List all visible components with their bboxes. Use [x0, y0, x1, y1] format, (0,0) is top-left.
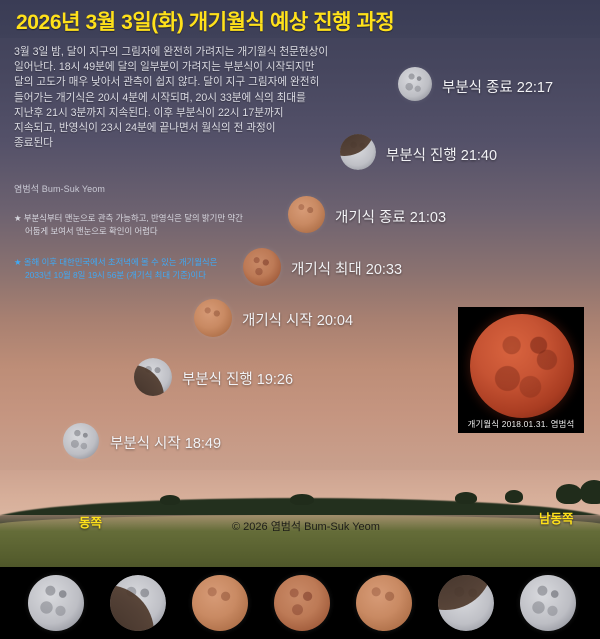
- moon-partial-late: [340, 134, 376, 170]
- stage-label-partial-start: 부분식 시작 18:49: [110, 432, 221, 453]
- photo-caption: 개기월식 2018.01.31. 염범석: [458, 418, 584, 430]
- note-line: 부분식부터 맨눈으로 관측 가능하고, 반영식은 달의 밝기만 약간: [24, 213, 243, 223]
- stage-label-partial-early: 부분식 진행 19:26: [182, 368, 293, 389]
- description-line: 종료된다: [14, 136, 334, 151]
- eclipse-infographic: 2026년 3월 3일(화) 개기월식 예상 진행 과정 3월 3일 밤, 달이…: [0, 0, 600, 639]
- tree-bump: [160, 495, 180, 505]
- filmstrip-moon-full: [28, 575, 84, 631]
- author-credit: 염범석 Bum-Suk Yeom: [14, 182, 105, 195]
- description-line: 3월 3일 밤, 달이 지구의 그림자에 완전히 가려지는 개기월식 천문현상이: [14, 45, 334, 60]
- stage-label-partial-end: 부분식 종료 22:17: [442, 76, 553, 97]
- moon-partial-end: [398, 67, 432, 101]
- moon-partial-start: [63, 423, 99, 459]
- filmstrip-moon-partial-late: [438, 575, 494, 631]
- note-naked-eye: ★ 부분식부터 맨눈으로 관측 가능하고, 반영식은 달의 밝기만 약간 어둡게…: [14, 212, 314, 238]
- direction-east: 동쪽: [79, 512, 102, 531]
- moon-totality-max: [243, 248, 281, 286]
- tree-bump: [290, 494, 314, 505]
- copyright-notice: © 2026 염범석 Bum-Suk Yeom: [232, 518, 380, 534]
- filmstrip-moon-full-end: [520, 575, 576, 631]
- tree-bump: [580, 480, 600, 504]
- stage-label-totality-start: 개기식 시작 20:04: [242, 309, 353, 330]
- stage-label-totality-end: 개기식 종료 21:03: [335, 206, 446, 227]
- stage-label-totality-max: 개기식 최대 20:33: [291, 258, 402, 279]
- moon-totality-start: [194, 299, 232, 337]
- description-line: 지난후 21시 3분까지 지속된다. 이후 부분식이 22시 17분까지: [14, 106, 334, 121]
- filmstrip-moon-totality-start: [192, 575, 248, 631]
- tree-bump: [505, 490, 523, 503]
- filmstrip: [0, 567, 600, 639]
- tree-bump: [455, 492, 477, 504]
- description-line: 들어가는 개기식은 20시 4분에 시작되며, 20시 33분에 식의 최대를: [14, 91, 334, 106]
- filmstrip-moon-totality-max: [274, 575, 330, 631]
- moon-totality-end: [288, 196, 325, 233]
- moon-partial-early: [134, 358, 172, 396]
- description-line: 달의 고도가 매우 낮아서 관측이 쉽지 않다. 달이 지구 그림자에 완전히: [14, 75, 334, 90]
- filmstrip-moon-totality-end: [356, 575, 412, 631]
- note-line: 어둡게 보여서 맨눈으로 확인이 어렵다: [14, 225, 314, 238]
- tree-bump: [556, 484, 582, 504]
- description-block: 3월 3일 밤, 달이 지구의 그림자에 완전히 가려지는 개기월식 천문현상이…: [14, 45, 334, 151]
- title-bar: 2026년 3월 3일(화) 개기월식 예상 진행 과정: [0, 0, 600, 38]
- star-icon: ★: [14, 213, 22, 223]
- direction-southeast: 남동쪽: [539, 508, 574, 527]
- description-line: 일어난다. 18시 49분에 달의 일부분이 가려지는 부분식이 시작되지만: [14, 60, 334, 75]
- star-icon: ★: [14, 257, 22, 267]
- blood-moon-photo: 개기월식 2018.01.31. 염범석: [458, 307, 584, 433]
- filmstrip-moon-partial-early: [110, 575, 166, 631]
- blood-moon-image: [470, 314, 574, 418]
- page-title: 2026년 3월 3일(화) 개기월식 예상 진행 과정: [16, 6, 394, 36]
- description-line: 지속되고, 반영식이 23시 24분에 끝나면서 월식의 전 과정이: [14, 121, 334, 136]
- stage-label-partial-late: 부분식 진행 21:40: [386, 144, 497, 165]
- note-line: 올해 이후 대한민국에서 초저녁에 볼 수 있는 개기월식은: [24, 257, 218, 267]
